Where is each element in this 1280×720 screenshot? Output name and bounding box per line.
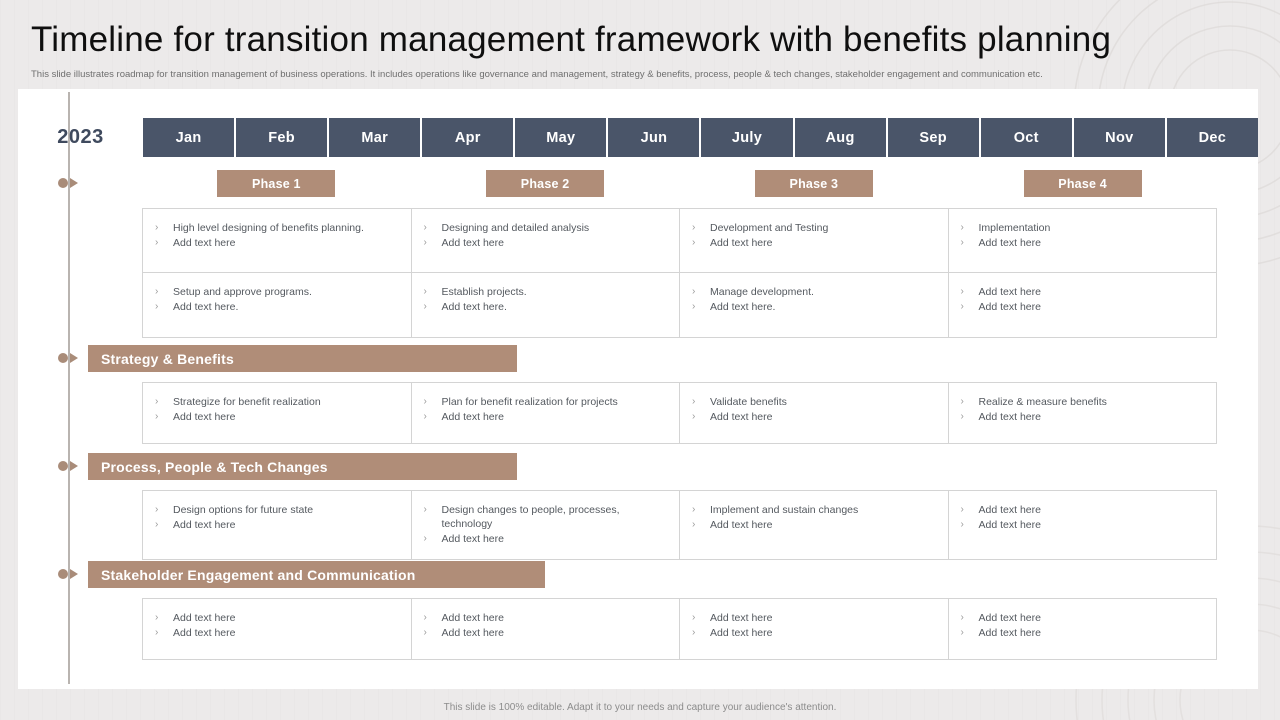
chevron-right-icon: ›: [155, 221, 173, 235]
chevron-right-icon: ›: [155, 503, 173, 517]
chevron-right-icon: ›: [961, 611, 979, 625]
dot-icon: [58, 569, 68, 579]
list-item: ›Add text here: [692, 518, 938, 532]
list-item: ›Implement and sustain changes: [692, 503, 938, 517]
month-cell-jun[interactable]: Jun: [608, 118, 699, 157]
list-item-label: Add text here: [442, 532, 670, 546]
list-item-label: Realize & measure benefits: [979, 395, 1207, 409]
month-cell-nov[interactable]: Nov: [1074, 118, 1165, 157]
list-item: ›Add text here: [424, 532, 670, 546]
triangle-right-icon: [70, 461, 78, 471]
month-cell-mar[interactable]: Mar: [329, 118, 420, 157]
list-item: ›Design options for future state: [155, 503, 401, 517]
list-item-label: Implement and sustain changes: [710, 503, 938, 517]
phase-pill-2[interactable]: Phase 2: [486, 170, 604, 197]
dot-icon: [58, 353, 68, 363]
table-cell[interactable]: ›Add text here›Add text here: [949, 491, 1217, 559]
table-cell[interactable]: ›Realize & measure benefits›Add text her…: [949, 383, 1217, 443]
table-cell[interactable]: ›Add text here›Add text here: [949, 599, 1217, 659]
chevron-right-icon: ›: [961, 221, 979, 235]
list-item: ›Establish projects.: [424, 285, 670, 299]
list-item-label: Add text here: [979, 626, 1207, 640]
list-item-label: Add text here: [173, 626, 401, 640]
table-cell[interactable]: ›Implement and sustain changes›Add text …: [680, 491, 949, 559]
list-item-label: Add text here: [979, 410, 1207, 424]
triangle-right-icon: [70, 569, 78, 579]
table-cell[interactable]: ›Establish projects.›Add text here.: [412, 273, 681, 337]
page-title: Timeline for transition management frame…: [0, 0, 1280, 62]
table-cell[interactable]: ›Add text here›Add text here: [143, 599, 412, 659]
list-item: ›Add text here: [155, 626, 401, 640]
table-cell[interactable]: ›High level designing of benefits planni…: [143, 209, 412, 272]
list-item: ›High level designing of benefits planni…: [155, 221, 401, 235]
chevron-right-icon: ›: [155, 611, 173, 625]
list-item: ›Add text here: [424, 626, 670, 640]
table-block-stakeholder-engagement: ›Add text here›Add text here›Add text he…: [142, 598, 1217, 660]
chevron-right-icon: ›: [424, 285, 442, 299]
phase-slot-4: Phase 4: [948, 170, 1217, 197]
phase-pill-3[interactable]: Phase 3: [755, 170, 873, 197]
chevron-right-icon: ›: [155, 236, 173, 250]
table-block-process-people-tech: ›Design options for future state›Add tex…: [142, 490, 1217, 560]
list-item-label: Design changes to people, processes, tec…: [442, 503, 670, 531]
phase-pill-4[interactable]: Phase 4: [1024, 170, 1142, 197]
list-item-label: Add text here: [979, 236, 1207, 250]
list-item: ›Strategize for benefit realization: [155, 395, 401, 409]
list-item: ›Add text here: [155, 410, 401, 424]
page-subtitle: This slide illustrates roadmap for trans…: [0, 62, 1280, 81]
list-item-label: Setup and approve programs.: [173, 285, 401, 299]
list-item-label: Add text here: [979, 611, 1207, 625]
table-cell[interactable]: ›Manage development.›Add text here.: [680, 273, 949, 337]
chevron-right-icon: ›: [692, 611, 710, 625]
timeline-marker-stakeholder-engagement: [58, 567, 84, 581]
list-item-label: Add text here: [710, 518, 938, 532]
chevron-right-icon: ›: [961, 300, 979, 314]
list-item-label: Validate benefits: [710, 395, 938, 409]
list-item-label: Add text here: [173, 236, 401, 250]
list-item-label: High level designing of benefits plannin…: [173, 221, 401, 235]
phase-slot-3: Phase 3: [680, 170, 949, 197]
chevron-right-icon: ›: [692, 395, 710, 409]
list-item-label: Add text here: [442, 236, 670, 250]
month-cell-aug[interactable]: Aug: [795, 118, 886, 157]
list-item-label: Add text here.: [442, 300, 670, 314]
chevron-right-icon: ›: [155, 395, 173, 409]
list-item: ›Validate benefits: [692, 395, 938, 409]
month-cell-july[interactable]: July: [701, 118, 792, 157]
month-cell-dec[interactable]: Dec: [1167, 118, 1258, 157]
list-item-label: Development and Testing: [710, 221, 938, 235]
chevron-right-icon: ›: [155, 626, 173, 640]
chevron-right-icon: ›: [692, 518, 710, 532]
list-item: ›Design changes to people, processes, te…: [424, 503, 670, 531]
list-item: ›Add text here: [961, 626, 1207, 640]
list-item: ›Add text here: [155, 518, 401, 532]
chevron-right-icon: ›: [692, 503, 710, 517]
phase-pill-1[interactable]: Phase 1: [217, 170, 335, 197]
chevron-right-icon: ›: [692, 285, 710, 299]
list-item: ›Manage development.: [692, 285, 938, 299]
table-cell[interactable]: ›Add text here›Add text here: [412, 599, 681, 659]
list-item: ›Add text here: [961, 503, 1207, 517]
list-item: ›Add text here: [424, 410, 670, 424]
triangle-right-icon: [70, 178, 78, 188]
list-item-label: Add text here.: [710, 300, 938, 314]
month-cell-list: JanFebMarAprMayJunJulyAugSepOctNovDec: [143, 118, 1258, 157]
month-cell-may[interactable]: May: [515, 118, 606, 157]
table-cell[interactable]: ›Strategize for benefit realization›Add …: [143, 383, 412, 443]
table-cell[interactable]: ›Validate benefits›Add text here: [680, 383, 949, 443]
chevron-right-icon: ›: [961, 395, 979, 409]
table-cell[interactable]: ›Setup and approve programs.›Add text he…: [143, 273, 412, 337]
chevron-right-icon: ›: [424, 221, 442, 235]
chevron-right-icon: ›: [692, 626, 710, 640]
triangle-right-icon: [70, 353, 78, 363]
list-item: ›Plan for benefit realization for projec…: [424, 395, 670, 409]
section-bar-stakeholder-engagement[interactable]: Stakeholder Engagement and Communication: [88, 561, 545, 588]
chevron-right-icon: ›: [692, 236, 710, 250]
list-item: ›Designing and detailed analysis: [424, 221, 670, 235]
chevron-right-icon: ›: [424, 626, 442, 640]
list-item: ›Add text here: [692, 626, 938, 640]
list-item: ›Add text here: [961, 611, 1207, 625]
list-item-label: Add text here: [173, 410, 401, 424]
chevron-right-icon: ›: [692, 300, 710, 314]
chevron-right-icon: ›: [961, 518, 979, 532]
list-item-label: Add text here: [710, 626, 938, 640]
chevron-right-icon: ›: [155, 300, 173, 314]
table-cell[interactable]: ›Implementation›Add text here: [949, 209, 1217, 272]
chevron-right-icon: ›: [961, 503, 979, 517]
list-item-label: Add text here: [710, 611, 938, 625]
chevron-right-icon: ›: [961, 410, 979, 424]
list-item: ›Add text here.: [155, 300, 401, 314]
chevron-right-icon: ›: [424, 532, 442, 546]
month-cell-sep[interactable]: Sep: [888, 118, 979, 157]
phase-slot-2: Phase 2: [411, 170, 680, 197]
list-item: ›Add text here: [155, 611, 401, 625]
list-item-label: Add text here: [442, 626, 670, 640]
list-item: ›Add text here: [692, 611, 938, 625]
list-item-label: Add text here: [979, 300, 1207, 314]
table-cell[interactable]: ›Design changes to people, processes, te…: [412, 491, 681, 559]
timeline-marker-process-people-tech: [58, 459, 84, 473]
chevron-right-icon: ›: [961, 236, 979, 250]
month-cell-oct[interactable]: Oct: [981, 118, 1072, 157]
list-item-label: Design options for future state: [173, 503, 401, 517]
list-item: ›Add text here: [961, 300, 1207, 314]
timeline-marker-strategy-benefits: [58, 351, 84, 365]
dot-icon: [58, 178, 68, 188]
chevron-right-icon: ›: [424, 410, 442, 424]
timeline-year-label: 2023: [18, 118, 143, 157]
list-item: ›Add text here: [961, 285, 1207, 299]
chevron-right-icon: ›: [424, 503, 442, 517]
list-item: ›Add text here: [961, 518, 1207, 532]
chevron-right-icon: ›: [155, 518, 173, 532]
list-item: ›Add text here.: [424, 300, 670, 314]
list-item-label: Implementation: [979, 221, 1207, 235]
table-cell[interactable]: ›Add text here›Add text here: [949, 273, 1217, 337]
section-bar-strategy-benefits[interactable]: Strategy & Benefits: [88, 345, 517, 372]
table-row: ›Setup and approve programs.›Add text he…: [143, 273, 1216, 337]
list-item: ›Add text here: [692, 410, 938, 424]
table-cell[interactable]: ›Designing and detailed analysis›Add tex…: [412, 209, 681, 272]
list-item: ›Add text here: [424, 611, 670, 625]
table-row: ›High level designing of benefits planni…: [143, 209, 1216, 273]
list-item-label: Add text here: [979, 503, 1207, 517]
list-item: ›Add text here: [692, 236, 938, 250]
chevron-right-icon: ›: [692, 221, 710, 235]
chevron-right-icon: ›: [155, 410, 173, 424]
chevron-right-icon: ›: [424, 395, 442, 409]
section-bar-process-people-tech[interactable]: Process, People & Tech Changes: [88, 453, 517, 480]
table-cell[interactable]: ›Design options for future state›Add tex…: [143, 491, 412, 559]
list-item: ›Add text here: [155, 236, 401, 250]
table-row: ›Design options for future state›Add tex…: [143, 491, 1216, 559]
phase-slot-1: Phase 1: [142, 170, 411, 197]
list-item-label: Strategize for benefit realization: [173, 395, 401, 409]
table-cell[interactable]: ›Add text here›Add text here: [680, 599, 949, 659]
list-item-label: Add text here: [442, 611, 670, 625]
chevron-right-icon: ›: [961, 626, 979, 640]
table-row: ›Strategize for benefit realization›Add …: [143, 383, 1216, 443]
slide-header: Timeline for transition management frame…: [0, 0, 1280, 81]
list-item-label: Add text here.: [173, 300, 401, 314]
list-item: ›Development and Testing: [692, 221, 938, 235]
table-cell[interactable]: ›Plan for benefit realization for projec…: [412, 383, 681, 443]
chevron-right-icon: ›: [424, 611, 442, 625]
list-item-label: Add text here: [979, 285, 1207, 299]
list-item: ›Realize & measure benefits: [961, 395, 1207, 409]
list-item: ›Add text here: [961, 410, 1207, 424]
list-item: ›Add text here.: [692, 300, 938, 314]
month-cell-jan[interactable]: Jan: [143, 118, 234, 157]
list-item-label: Designing and detailed analysis: [442, 221, 670, 235]
chevron-right-icon: ›: [155, 285, 173, 299]
chevron-right-icon: ›: [424, 300, 442, 314]
timeline-month-header: 2023 JanFebMarAprMayJunJulyAugSepOctNovD…: [18, 118, 1258, 157]
month-cell-apr[interactable]: Apr: [422, 118, 513, 157]
chevron-right-icon: ›: [961, 285, 979, 299]
list-item-label: Plan for benefit realization for project…: [442, 395, 670, 409]
footer-note: This slide is 100% editable. Adapt it to…: [0, 702, 1280, 713]
list-item-label: Add text here: [173, 611, 401, 625]
phase-bar-list: Phase 1Phase 2Phase 3Phase 4: [142, 170, 1217, 197]
month-cell-feb[interactable]: Feb: [236, 118, 327, 157]
timeline-marker-governance: [58, 176, 84, 190]
table-block-governance: ›High level designing of benefits planni…: [142, 208, 1217, 338]
list-item-label: Establish projects.: [442, 285, 670, 299]
dot-icon: [58, 461, 68, 471]
list-item: ›Setup and approve programs.: [155, 285, 401, 299]
list-item: ›Add text here: [961, 236, 1207, 250]
table-cell[interactable]: ›Development and Testing›Add text here: [680, 209, 949, 272]
table-block-strategy-benefits: ›Strategize for benefit realization›Add …: [142, 382, 1217, 444]
chevron-right-icon: ›: [424, 236, 442, 250]
list-item-label: Add text here: [710, 410, 938, 424]
list-item: ›Add text here: [424, 236, 670, 250]
list-item-label: Add text here: [173, 518, 401, 532]
list-item-label: Add text here: [979, 518, 1207, 532]
list-item-label: Add text here: [710, 236, 938, 250]
table-row: ›Add text here›Add text here›Add text he…: [143, 599, 1216, 659]
list-item: ›Implementation: [961, 221, 1207, 235]
chevron-right-icon: ›: [692, 410, 710, 424]
list-item-label: Manage development.: [710, 285, 938, 299]
list-item-label: Add text here: [442, 410, 670, 424]
